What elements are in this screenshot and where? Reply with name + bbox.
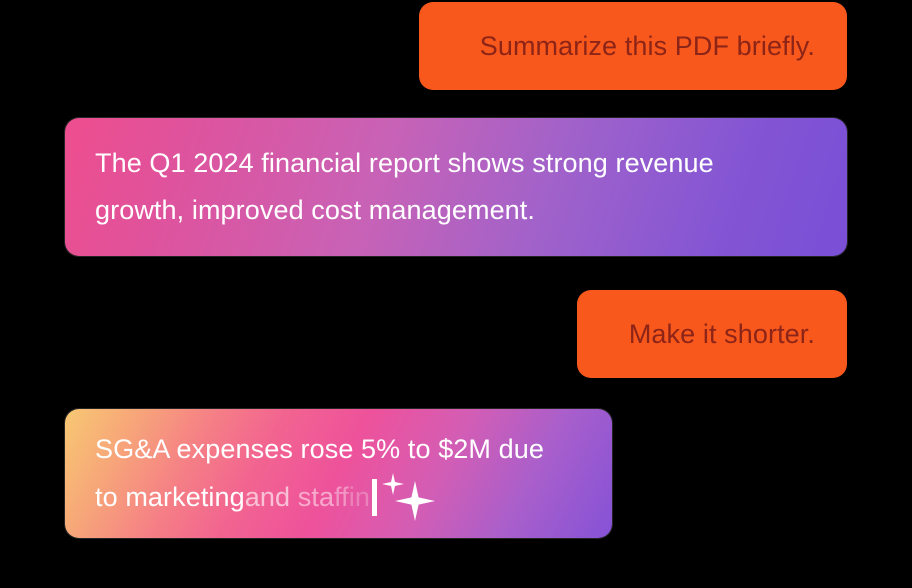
sparkle-small-icon <box>382 473 404 495</box>
fade-segment-3: ff <box>334 482 349 512</box>
message-line: growth, improved cost management. <box>95 187 817 234</box>
fade-segment-4: in <box>349 482 370 512</box>
chat-canvas: Summarize this PDF briefly. The Q1 2024 … <box>0 0 912 588</box>
message-line-streaming: to marketing and staffin <box>95 473 582 521</box>
message-text-solid: to marketing <box>95 474 245 521</box>
assistant-message-bubble-2-streaming[interactable]: SG&A expenses rose 5% to $2M due to mark… <box>65 409 612 538</box>
fade-segment-2: sta <box>290 482 334 512</box>
sparkle-icon <box>395 481 435 521</box>
message-line: Summarize this PDF briefly. <box>451 28 815 64</box>
fade-segment-1: and <box>245 482 290 512</box>
message-text-fading: and staffin <box>245 474 370 521</box>
message-line: The Q1 2024 financial report shows stron… <box>95 140 817 187</box>
sparkle-group <box>381 473 439 521</box>
message-line: Make it shorter. <box>609 316 815 352</box>
text-caret <box>372 479 377 516</box>
assistant-message-bubble-1[interactable]: The Q1 2024 financial report shows stron… <box>65 118 847 256</box>
user-message-bubble-2[interactable]: Make it shorter. <box>577 290 847 378</box>
user-message-bubble-1[interactable]: Summarize this PDF briefly. <box>419 2 847 90</box>
message-line: SG&A expenses rose 5% to $2M due <box>95 426 582 473</box>
